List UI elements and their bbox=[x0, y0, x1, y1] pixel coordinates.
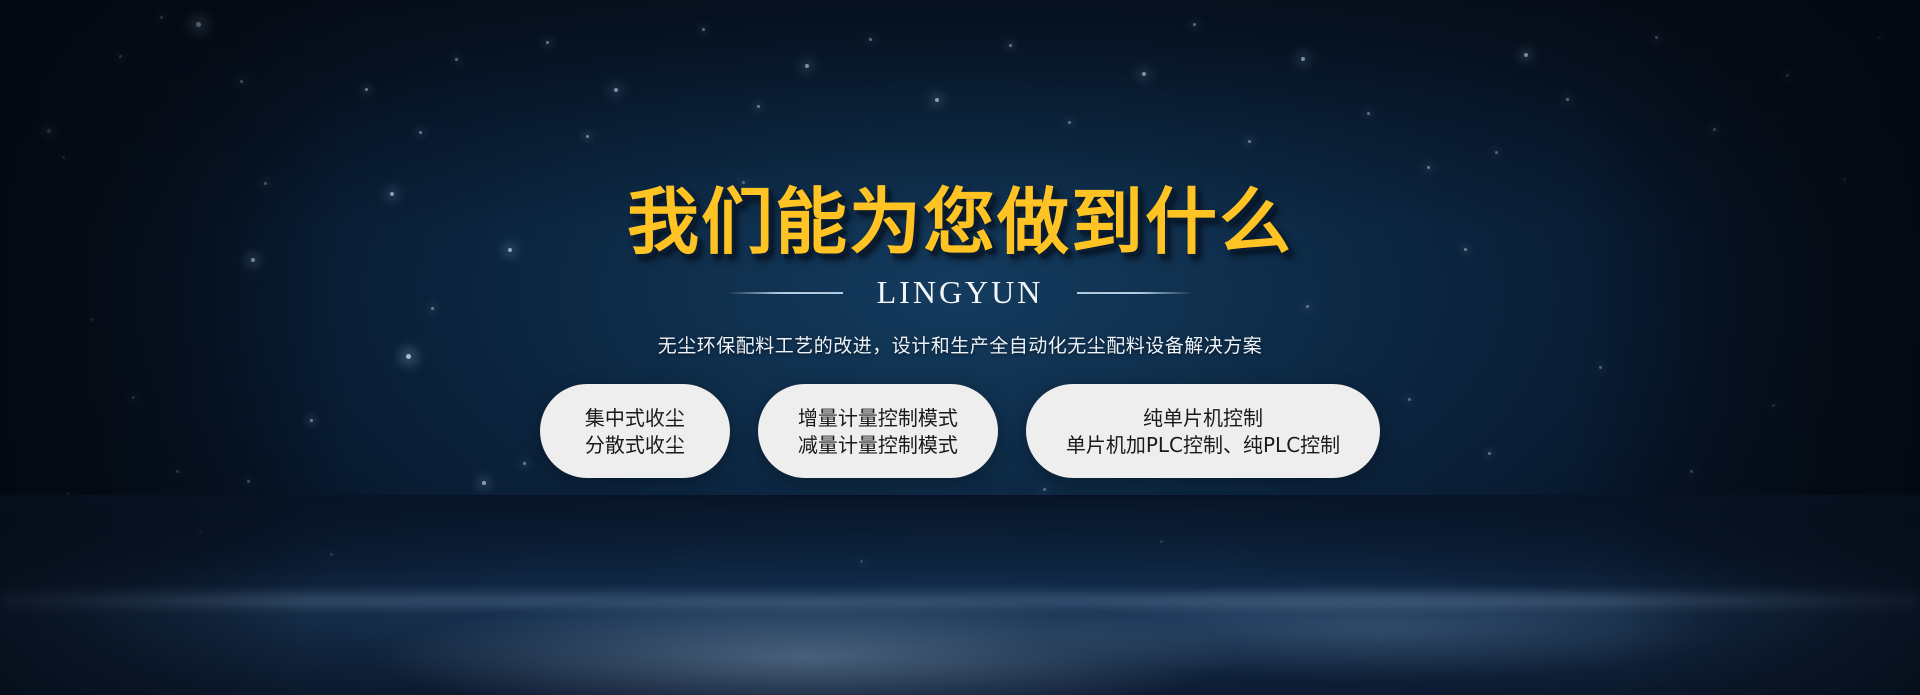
brand-name: LINGYUN bbox=[877, 274, 1044, 311]
brand-row: LINGYUN bbox=[727, 274, 1194, 311]
feature-card-metering-mode[interactable]: 增量计量控制模式 减量计量控制模式 bbox=[758, 384, 998, 478]
feature-card-line-2: 单片机加PLC控制、纯PLC控制 bbox=[1066, 435, 1340, 455]
hero-tagline: 无尘环保配料工艺的改进，设计和生产全自动化无尘配料设备解决方案 bbox=[658, 331, 1263, 358]
feature-card-line-2: 减量计量控制模式 bbox=[798, 435, 958, 455]
divider-line-left bbox=[727, 292, 843, 294]
feature-card-line-1: 集中式收尘 bbox=[585, 408, 685, 428]
divider-line-right bbox=[1077, 292, 1193, 294]
hero-headline: 我们能为您做到什么 bbox=[627, 186, 1293, 258]
feature-card-control-system[interactable]: 纯单片机控制 单片机加PLC控制、纯PLC控制 bbox=[1026, 384, 1380, 478]
feature-card-line-1: 增量计量控制模式 bbox=[798, 408, 958, 428]
hero-content: 我们能为您做到什么 LINGYUN 无尘环保配料工艺的改进，设计和生产全自动化无… bbox=[0, 0, 1920, 695]
feature-card-line-2: 分散式收尘 bbox=[585, 435, 685, 455]
feature-card-line-1: 纯单片机控制 bbox=[1143, 408, 1263, 428]
hero-banner: 我们能为您做到什么 LINGYUN 无尘环保配料工艺的改进，设计和生产全自动化无… bbox=[0, 0, 1920, 695]
feature-card-dust-collection[interactable]: 集中式收尘 分散式收尘 bbox=[540, 384, 730, 478]
feature-card-list: 集中式收尘 分散式收尘 增量计量控制模式 减量计量控制模式 纯单片机控制 单片机… bbox=[540, 384, 1380, 478]
